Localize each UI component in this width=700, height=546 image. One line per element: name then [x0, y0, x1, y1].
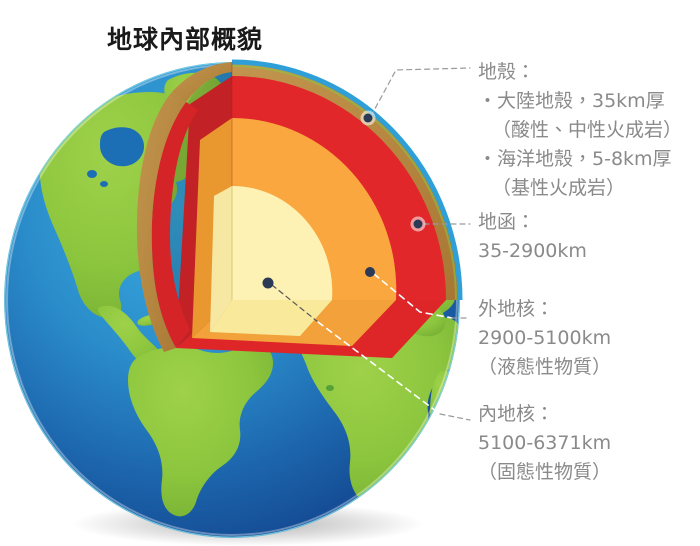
- annotation-crust-line-1: ・大陸地殼，35km厚: [478, 87, 682, 116]
- leader-line-crust: [371, 68, 470, 116]
- annotation-outer-core: 外地核： 2900-5100km （液態性物質）: [478, 295, 611, 382]
- inner-core-marker[interactable]: [263, 278, 274, 289]
- annotation-inner-core: 內地核： 5100-6371km （固態性物質）: [478, 400, 611, 487]
- annotation-crust-line-3: ・海洋地殼，5-8km厚: [478, 145, 682, 174]
- annotation-inner-core-line-1: 5100-6371km: [478, 429, 611, 458]
- island-dot-africa: [326, 385, 334, 391]
- lake-dot-1: [87, 170, 97, 178]
- annotation-crust-heading: 地殼：: [478, 58, 682, 87]
- mantle-marker[interactable]: [414, 220, 423, 229]
- annotation-outer-core-line-2: （液態性物質）: [478, 353, 611, 382]
- annotation-crust-line-2: （酸性、中性火成岩）: [478, 116, 682, 145]
- annotation-crust: 地殼： ・大陸地殼，35km厚 （酸性、中性火成岩） ・海洋地殼，5-8km厚 …: [478, 58, 682, 203]
- lake-dot-2: [100, 181, 108, 187]
- annotation-mantle: 地函： 35-2900km: [478, 208, 587, 266]
- annotation-inner-core-line-2: （固態性物質）: [478, 458, 611, 487]
- annotation-inner-core-heading: 內地核：: [478, 400, 611, 429]
- annotation-outer-core-line-1: 2900-5100km: [478, 324, 611, 353]
- annotation-outer-core-heading: 外地核：: [478, 295, 611, 324]
- earth-interior-diagram-page: 地球內部概貌: [0, 0, 700, 546]
- outer-core-marker[interactable]: [365, 267, 375, 277]
- leader-line-inner-core: [440, 414, 470, 420]
- annotation-crust-line-4: （基性火成岩）: [478, 174, 682, 203]
- annotation-mantle-heading: 地函：: [478, 208, 587, 237]
- annotation-mantle-line-1: 35-2900km: [478, 237, 587, 266]
- crust-marker[interactable]: [364, 114, 373, 123]
- cutaway-wedge: [137, 62, 460, 360]
